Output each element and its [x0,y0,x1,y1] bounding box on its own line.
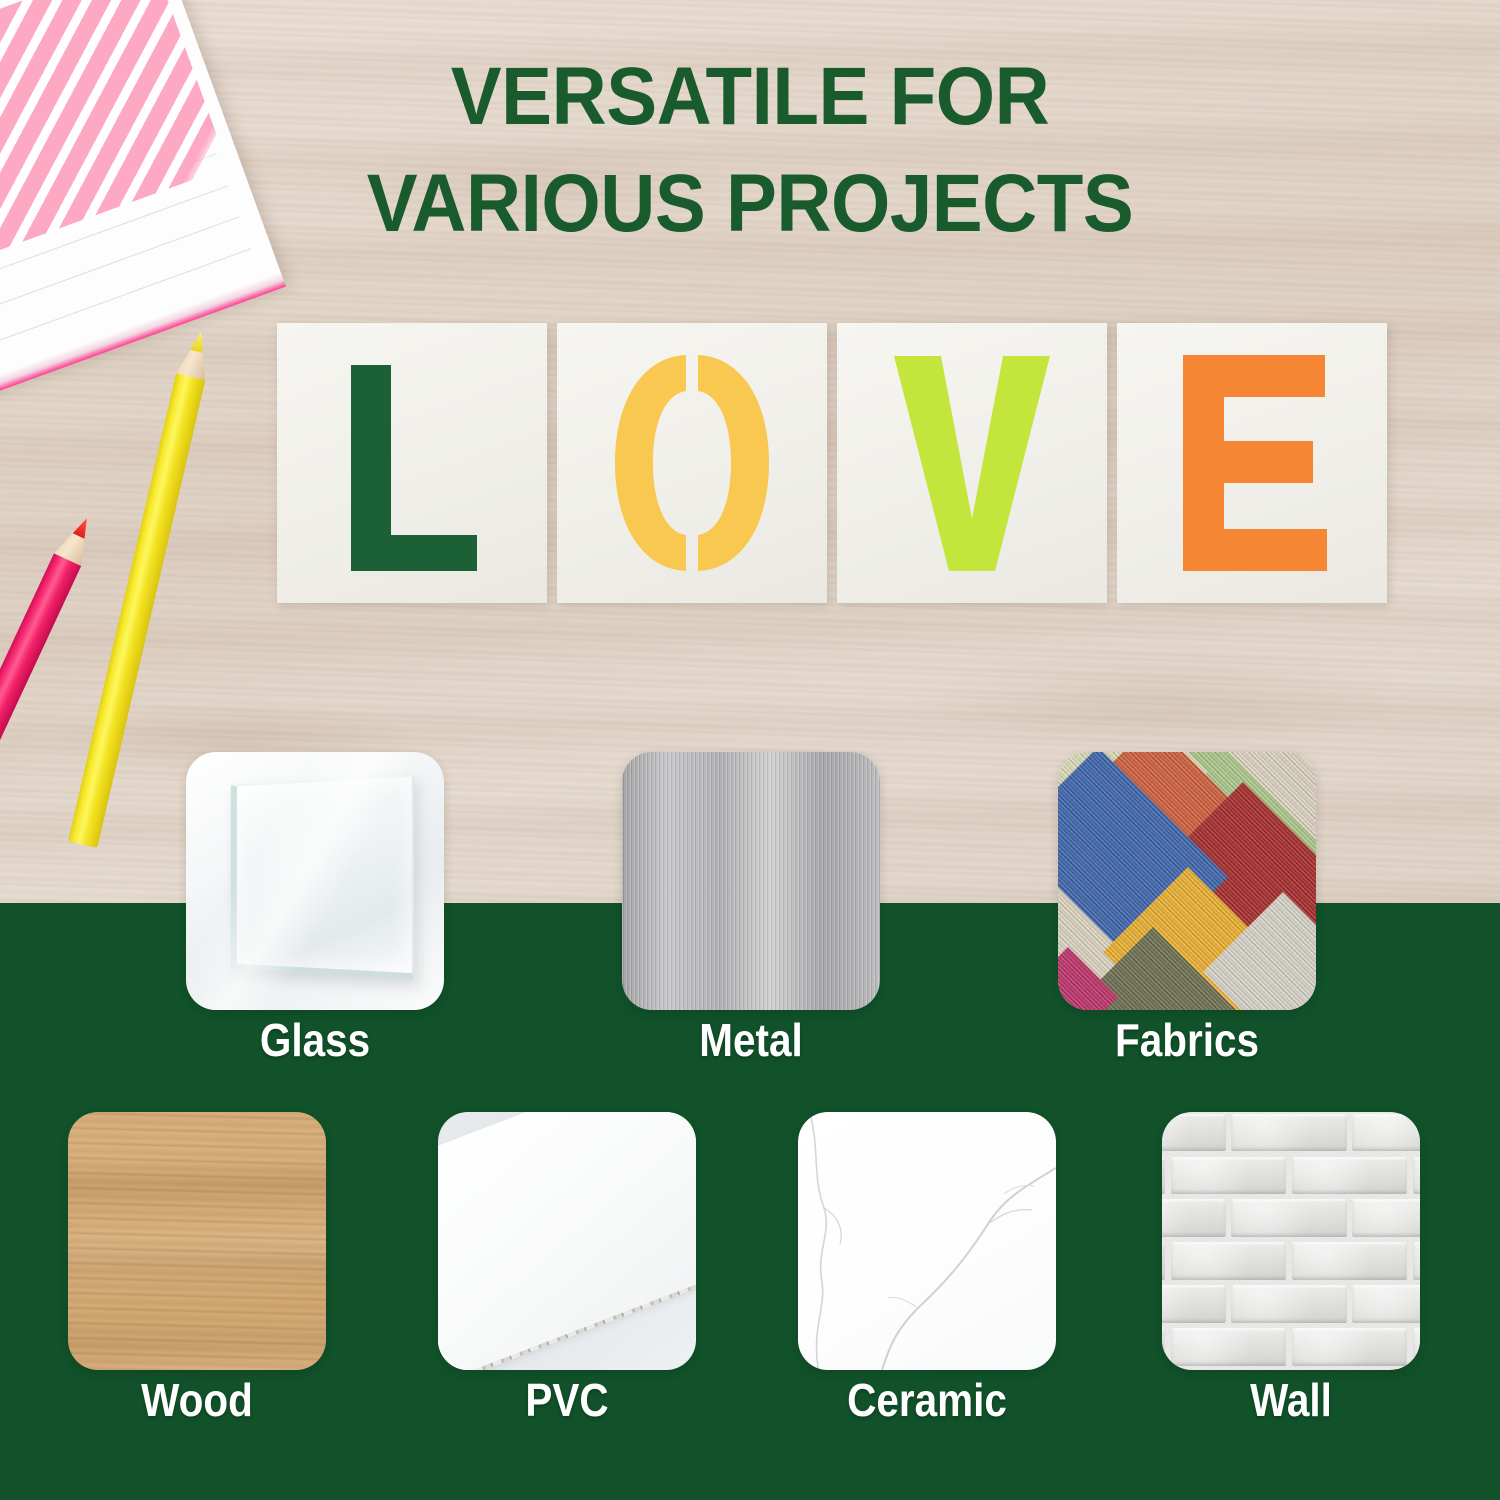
product-infographic: VERSATILE FOR VARIOUS PROJECTS [0,0,1500,1500]
glass-pane-icon [186,752,444,1010]
material-item-pvc[interactable]: PVC [438,1112,696,1424]
stencil-card-o[interactable] [557,323,827,603]
letter-v-glyph [837,323,1107,603]
pvc-board-icon [438,1112,696,1370]
material-label-pvc: PVC [453,1376,680,1424]
material-item-fabrics[interactable]: Fabrics [1058,752,1316,1064]
material-label-ceramic: Ceramic [813,1376,1040,1424]
stencil-card-l[interactable] [277,323,547,603]
material-item-metal[interactable]: Metal [622,752,880,1064]
material-label-wall: Wall [1177,1376,1404,1424]
material-label-fabrics: Fabrics [1073,1016,1300,1064]
stencil-card-v[interactable] [837,323,1107,603]
fabric-swatches-icon [1058,752,1316,1010]
material-item-wood[interactable]: Wood [68,1112,326,1424]
material-item-glass[interactable]: Glass [186,752,444,1064]
marble-tile-icon [798,1112,1056,1370]
page-title: VERSATILE FOR VARIOUS PROJECTS [53,44,1448,257]
letter-l-glyph [277,323,547,603]
material-label-glass: Glass [201,1016,428,1064]
headline-line-2: VARIOUS PROJECTS [53,151,1448,258]
brushed-metal-icon [622,752,880,1010]
material-label-wood: Wood [83,1376,310,1424]
material-item-wall[interactable]: Wall [1162,1112,1420,1424]
stencil-letter-row [277,323,1387,603]
material-item-ceramic[interactable]: Ceramic [798,1112,1056,1424]
brick-wall-icon [1162,1112,1420,1370]
letter-o-glyph [557,323,827,603]
stencil-card-e[interactable] [1117,323,1387,603]
material-label-metal: Metal [637,1016,864,1064]
letter-e-glyph [1117,323,1387,603]
headline-line-1: VERSATILE FOR [53,44,1448,151]
wood-grain-icon [68,1112,326,1370]
